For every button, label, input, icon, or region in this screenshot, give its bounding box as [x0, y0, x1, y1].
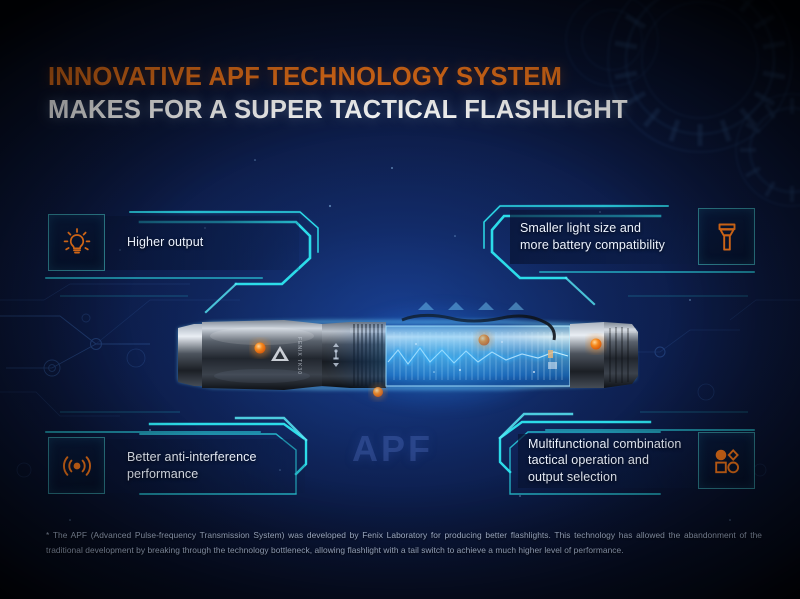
feature-panel: Better anti-interference performance [105, 439, 305, 493]
footnote-text: * The APF (Advanced Pulse-frequency Tran… [46, 528, 762, 558]
apf-watermark: APF [352, 428, 433, 470]
feature-multifunctional[interactable]: Multifunctional combination tactical ope… [518, 432, 755, 489]
promo-banner: INNOVATIVE APF TECHNOLOGY SYSTEM MAKES F… [0, 0, 800, 599]
feature-panel: Smaller light size and more battery comp… [510, 210, 698, 264]
feature-text: Higher output [127, 234, 203, 251]
feature-higher-output[interactable]: Higher output [48, 214, 299, 271]
signal-waves-icon [48, 437, 105, 494]
torch-bezel [178, 324, 202, 386]
feature-anti-interference[interactable]: Better anti-interference performance [48, 437, 305, 494]
feature-text: Smaller light size and more battery comp… [520, 220, 665, 253]
feature-panel: Higher output [105, 216, 299, 270]
feature-text: Multifunctional combination tactical ope… [528, 436, 681, 486]
feature-smaller-light-size[interactable]: Smaller light size and more battery comp… [510, 208, 755, 265]
feature-text: Better anti-interference performance [127, 449, 257, 482]
headline-line-2: MAKES FOR A SUPER TACTICAL FLASHLIGHT [48, 97, 628, 124]
hotspot-marker [251, 339, 269, 357]
flashlight-product-image: FENIX TK30 [172, 300, 642, 410]
flashlight-icon [698, 208, 755, 265]
headline-block: INNOVATIVE APF TECHNOLOGY SYSTEM MAKES F… [48, 64, 628, 124]
battery-glow [292, 282, 592, 432]
shapes-grid-icon [698, 432, 755, 489]
lightbulb-icon [48, 214, 105, 271]
feature-panel: Multifunctional combination tactical ope… [518, 434, 698, 488]
headline-line-1: INNOVATIVE APF TECHNOLOGY SYSTEM [48, 64, 628, 91]
